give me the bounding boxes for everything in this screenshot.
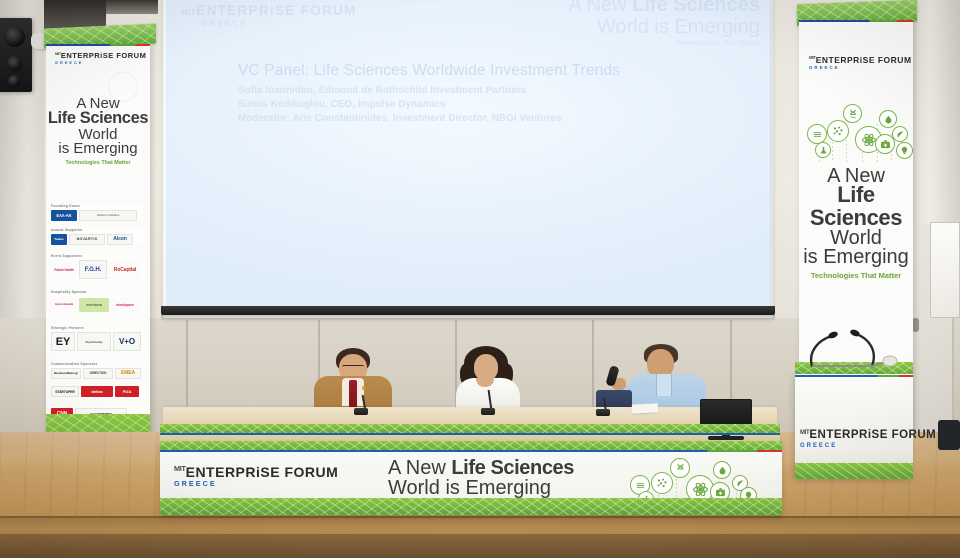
- banner-right-logo-name: ENTERPRiSE FORUM: [816, 55, 912, 65]
- speaker-cone-icon: [8, 75, 20, 87]
- flask-icon: [815, 142, 831, 158]
- sponsor-caption: Communication Sponsors: [51, 362, 145, 366]
- papers: [632, 403, 658, 413]
- slide-speaker-1: Sofia Ioannidou, Edmond de Rothschild In…: [238, 84, 708, 98]
- petri-dish-icon: [807, 124, 827, 144]
- slide-moderator: Moderator: Aris Constantinides, Investme…: [238, 112, 708, 126]
- slide-tagline-line2: World is Emerging: [569, 16, 760, 38]
- sponsor-logo: Royal Society: [77, 332, 111, 351]
- podium-logo: MITENTERPRiSE FORUM GREECE: [800, 430, 936, 448]
- podium-gooseneck-mics: [798, 318, 916, 370]
- sponsor-logo: Future Health: [51, 260, 77, 279]
- slide-body: VC Panel: Life Sciences Worldwide Invest…: [238, 62, 708, 126]
- podium-colorrule: [795, 375, 913, 377]
- sponsor-caption: Founding Donor: [51, 204, 145, 208]
- slide-tagline-world: World: [597, 16, 649, 38]
- sponsor-logo: BusinessNews.gr: [51, 368, 81, 379]
- banner-left-isemerging: is Emerging: [46, 141, 150, 156]
- slide-logo-mit: MIT: [181, 8, 196, 17]
- screen-shadow: [161, 315, 775, 321]
- sponsor-logo: STARTUPER: [51, 386, 79, 397]
- ceiling-recess-secondary: [106, 0, 158, 14]
- whiteboard: [930, 222, 960, 318]
- podium-logo-name: ENTERPRiSE FORUM: [809, 429, 936, 441]
- sponsor-logo: PIZA: [115, 386, 139, 397]
- dna-icon: [670, 458, 690, 478]
- screen-edge: [770, 0, 776, 314]
- droplet-icon: [879, 110, 897, 128]
- front-panel-world: World: [388, 477, 440, 499]
- banner-left-tagline: Technologies That Matter: [46, 161, 150, 167]
- front-panel-top-green: [160, 441, 782, 450]
- sponsor-logo: F.G.H.: [79, 260, 107, 279]
- sponsor-group-5: Communication Sponsors BusinessNews.gr D…: [51, 362, 145, 379]
- sponsor-row: EY Royal Society V+O: [51, 332, 145, 352]
- head: [474, 354, 498, 381]
- sponsor-logo: mindspace: [111, 298, 139, 312]
- podium-logo-region: GREECE: [800, 443, 936, 449]
- front-panel-logo-region: GREECE: [174, 480, 338, 487]
- sponsor-logo: EMEA: [115, 368, 141, 379]
- glasses-icon: [342, 365, 364, 370]
- sponsor-row: ΕΛΛ-ΑΚ Hellenic Initiative: [51, 210, 145, 221]
- sponsor-group-6: STARTUPER Iatrikos PIZA: [51, 386, 145, 397]
- sponsor-group-4: Strategic Partners EY Royal Society V+O: [51, 326, 145, 352]
- banner-left: MITENTERPRiSE FORUM GREECE A New Life Sc…: [46, 44, 150, 458]
- speaker-cone-icon: [4, 26, 25, 47]
- banner-right-logo: MITENTERPRiSE FORUM GREECE: [809, 56, 912, 70]
- sponsor-caption: Event Supporters: [51, 254, 145, 258]
- sponsor-caption: Strategic Partners: [51, 326, 145, 330]
- lapel-pin-icon: [362, 386, 366, 390]
- desk-microphone[interactable]: [481, 408, 495, 415]
- sponsor-logo: EY: [51, 332, 75, 351]
- sponsor-row: BusinessNews.gr DIRECTION EMEA: [51, 368, 145, 379]
- slide-tagline-line1: A New Life Sciences: [569, 0, 760, 16]
- front-panel-lifesciences: Life Sciences: [451, 457, 574, 479]
- sponsor-caption: Annual Supporter: [51, 228, 145, 232]
- front-panel-colorrule: [160, 450, 782, 452]
- sponsor-logo: Hellenic Initiative: [79, 210, 137, 221]
- slide-logo: MITENTERPRiSE FORUM GREECE: [181, 2, 357, 28]
- slide-tagline-sub: Technologies That Matter: [569, 40, 760, 48]
- podium-base-green: [795, 463, 913, 479]
- cells-icon: [827, 120, 849, 142]
- podium-logo-mit: MIT: [800, 430, 809, 436]
- banner-right-tagline: Technologies That Matter: [799, 272, 913, 280]
- banner-left-lifesciences: Life Sciences: [46, 110, 150, 127]
- panelist-left: [306, 348, 398, 414]
- slide-campaign-tagline: A New Life Sciences World is Emerging Te…: [569, 0, 760, 48]
- banner-left-logo-name: ENTERPRiSE FORUM: [61, 51, 147, 60]
- sponsor-logo: NOVARTIS: [69, 234, 105, 245]
- sponsor-logo: Tsakos: [51, 234, 67, 245]
- droplet-icon: [713, 461, 731, 479]
- sponsor-logo: V+O: [113, 332, 141, 351]
- leaf-icon: [892, 126, 908, 142]
- sponsor-caption: Hospitality Sponsor: [51, 290, 145, 294]
- lightbulb-icon: [896, 142, 913, 159]
- speaker-cone-icon: [7, 56, 22, 71]
- banner-right-headline: A New Life Sciences World is Emerging Te…: [799, 166, 913, 280]
- desk-microphone[interactable]: [596, 409, 610, 416]
- camera-cable: [34, 48, 36, 70]
- sponsor-logo: Iatrikos: [81, 386, 113, 397]
- slide-logo-region: GREECE: [201, 19, 357, 28]
- sponsor-row: Tsakos NOVARTIS Alcon: [51, 234, 145, 245]
- front-panel-line2: World is Emerging: [388, 478, 574, 498]
- banner-right-lifesciences: Life Sciences: [799, 184, 913, 229]
- screen-bottom-bar: [161, 306, 775, 315]
- necktie: [349, 380, 357, 408]
- monitor-stand: [708, 436, 744, 440]
- sponsor-logo: eventora: [79, 298, 109, 312]
- shirt-placket: [656, 374, 672, 396]
- front-panel-anew: A New: [388, 457, 451, 479]
- slide-speaker-2: Simos Kedikoglou, CEO, Impulse Dynamics: [238, 98, 708, 112]
- sponsor-row: Intercontinental eventora mindspace: [51, 296, 145, 314]
- front-panel-logo-name: ENTERPRiSE FORUM: [186, 464, 339, 480]
- desk-microphone[interactable]: [354, 408, 368, 415]
- sponsor-logo: ΕΛΛ-ΑΚ: [51, 210, 77, 221]
- cells-icon: [651, 472, 673, 494]
- banner-right-colorrule: [799, 20, 913, 22]
- sponsor-group-1: Annual Supporter Tsakos NOVARTIS Alcon: [51, 228, 145, 245]
- wall-speaker: [0, 18, 32, 92]
- front-panel-line1: A New Life Sciences: [388, 458, 574, 478]
- banner-right-isemerging: is Emerging: [799, 247, 913, 267]
- table-green-strip: [160, 424, 780, 433]
- sponsor-logo: RoCapital: [109, 260, 141, 279]
- slide-tagline-isemerging: is Emerging: [654, 16, 760, 38]
- stage-front-banner: MITENTERPRiSE FORUM GREECE A New Life Sc…: [160, 441, 782, 515]
- sponsor-logo: DIRECTION: [83, 368, 113, 379]
- sponsor-group-3: Hospitality Sponsor Intercontinental eve…: [51, 290, 145, 314]
- banner-right-logo-region: GREECE: [809, 66, 912, 70]
- slide-tagline-anew: A New: [569, 0, 632, 16]
- sponsor-logo: Intercontinental: [51, 296, 77, 313]
- table-blue-line: [160, 433, 780, 435]
- banner-left-logo-region: GREECE: [55, 61, 146, 65]
- dna-icon: [843, 104, 862, 123]
- front-panel-logo-mit: MIT: [174, 464, 186, 473]
- science-icon-cluster: [799, 102, 913, 166]
- conference-stage-photo: MITENTERPRiSE FORUM GREECE A New Life Sc…: [0, 0, 960, 558]
- sponsor-group-0: Founding Donor ΕΛΛ-ΑΚ Hellenic Initiativ…: [51, 204, 145, 221]
- slide-title: VC Panel: Life Sciences Worldwide Invest…: [238, 62, 708, 80]
- banner-left-headline: A New Life Sciences World is Emerging Te…: [46, 96, 150, 166]
- chair: [938, 420, 960, 450]
- slide-logo-name: ENTERPRiSE FORUM: [196, 3, 356, 18]
- front-panel-logo: MITENTERPRiSE FORUM GREECE: [174, 465, 338, 487]
- front-panel-bottom-green: [160, 498, 782, 515]
- sponsor-logo: Alcon: [107, 234, 133, 245]
- sponsor-row: Future Health F.G.H. RoCapital: [51, 260, 145, 280]
- banner-left-logo: MITENTERPRiSE FORUM GREECE: [55, 52, 146, 64]
- banner-right-logo-mit: MIT: [809, 55, 816, 60]
- front-panel-isemerging: is Emerging: [445, 477, 551, 499]
- stage-step: [0, 534, 960, 558]
- slide-tagline-lifesciences: Life Sciences: [632, 0, 760, 16]
- sponsor-group-2: Event Supporters Future Health F.G.H. Ro…: [51, 254, 145, 280]
- sponsor-row: STARTUPER Iatrikos PIZA: [51, 386, 145, 397]
- banner-left-colorrule: [46, 44, 150, 46]
